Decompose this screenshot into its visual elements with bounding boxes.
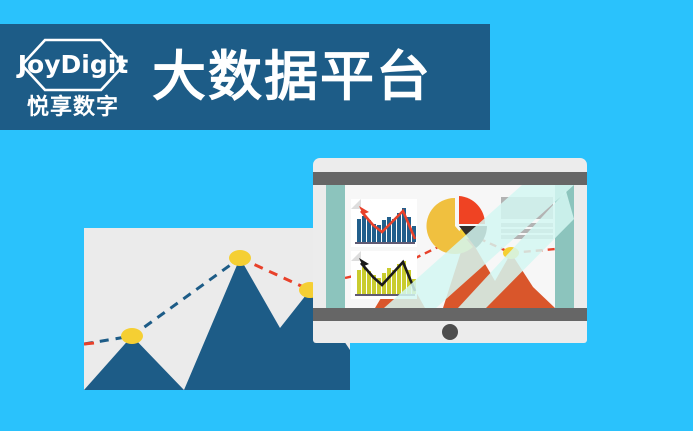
logo-hexagon-wrap: JoyDigit [18, 37, 128, 93]
data-point-marker [121, 328, 143, 344]
pie-chart[interactable] [426, 195, 488, 257]
screen-right-panel [555, 185, 574, 308]
card-folded-corner [351, 199, 361, 209]
mountain-line-panel [84, 228, 350, 390]
page-title: 大数据平台 [152, 50, 432, 104]
content-block[interactable] [501, 197, 553, 239]
image-placeholder [501, 197, 553, 219]
poster-canvas: JoyDigit 悦享数字 大数据平台 [0, 0, 693, 431]
screen-left-panel [326, 185, 345, 308]
logo-english-text: JoyDigit [18, 52, 129, 77]
text-line [501, 223, 553, 227]
header-banner: JoyDigit 悦享数字 大数据平台 [0, 24, 490, 130]
pie-slice-red[interactable] [459, 196, 485, 224]
monitor-bottom-bar [313, 308, 587, 321]
bar-chart-card-yellow[interactable] [351, 251, 417, 299]
monitor-screen [326, 185, 574, 308]
data-point-marker [229, 250, 251, 266]
data-point-marker [503, 247, 519, 259]
mountain-shape-left [84, 258, 350, 390]
monitor-top-bar [313, 172, 587, 185]
logo-chinese-text: 悦享数字 [27, 96, 119, 118]
desktop-monitor [313, 158, 587, 343]
text-line [501, 235, 553, 239]
text-line [501, 229, 553, 233]
card-folded-corner [351, 251, 361, 261]
left-panel-chart [84, 228, 350, 390]
power-button[interactable] [442, 324, 458, 340]
trend-line-red-stub [84, 343, 94, 344]
brand-logo: JoyDigit 悦享数字 [12, 31, 134, 123]
bar-chart-card-blue[interactable] [351, 199, 417, 247]
